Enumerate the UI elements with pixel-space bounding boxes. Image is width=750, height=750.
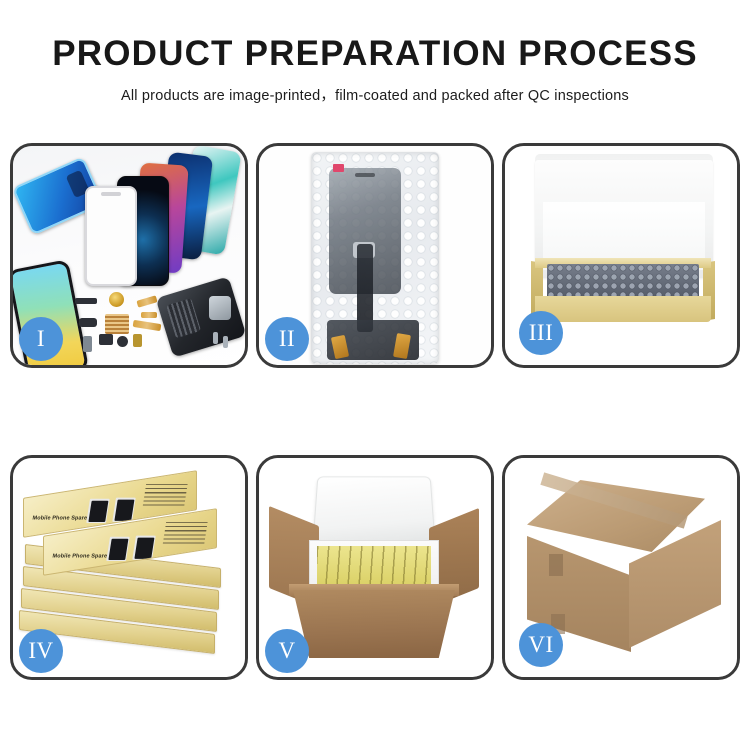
- process-step-card-4[interactable]: Mobile Phone Spare Parts Mobile Phone Sp…: [10, 455, 248, 680]
- product-preparation-infographic: PRODUCT PREPARATION PROCESS All products…: [0, 0, 750, 750]
- process-step-card-1[interactable]: I: [10, 143, 248, 368]
- process-step-card-6[interactable]: VI: [502, 455, 740, 680]
- spare-part-flex-cable-3: [133, 320, 162, 331]
- page-title: PRODUCT PREPARATION PROCESS: [0, 36, 750, 73]
- retail-box-1-thumb-b: [112, 498, 136, 522]
- bubble-wrap: [311, 152, 439, 364]
- bubble-wrapped-parts: [547, 264, 699, 300]
- spare-part-sim-tray: [83, 336, 92, 352]
- spare-part-shield: [105, 314, 129, 334]
- carton-front-panel: [293, 590, 455, 658]
- step-badge-6: VI: [519, 623, 563, 667]
- step-badge-3: III: [519, 311, 563, 355]
- step-badge-5: V: [265, 629, 309, 673]
- retail-box-2-spec-lines: [162, 522, 207, 546]
- foam-box-lid: [312, 476, 435, 544]
- carton-tab-upper: [549, 554, 563, 576]
- lcd-flex-cable: [357, 244, 373, 332]
- step-badge-2: II: [265, 317, 309, 361]
- spare-part-tool: [209, 296, 231, 320]
- spare-part-battery-connector: [133, 334, 142, 347]
- spare-part-flex-cable-2: [141, 312, 157, 318]
- phone-front-glass-white: [85, 186, 137, 286]
- spare-part-screw-1: [213, 332, 218, 344]
- page-subtitle: All products are image-printed，film-coat…: [0, 84, 750, 105]
- process-step-card-2[interactable]: II: [256, 143, 494, 368]
- mailer-box-front-panel: [535, 296, 711, 322]
- spare-part-flex-cable-1: [136, 295, 157, 307]
- step-badge-1: I: [19, 317, 63, 361]
- lcd-qc-sticker: [333, 164, 344, 172]
- phone-logic-board: [156, 276, 245, 358]
- spare-part-button: [117, 336, 128, 347]
- retail-box-2-thumb-a: [106, 537, 130, 561]
- spare-part-screw-2: [223, 336, 228, 348]
- spare-part-coil: [109, 292, 124, 307]
- retail-box-1-thumb-a: [86, 499, 110, 523]
- step-badge-4: IV: [19, 629, 63, 673]
- process-step-card-5[interactable]: V: [256, 455, 494, 680]
- retail-box-2-thumb-b: [132, 536, 156, 560]
- process-step-card-3[interactable]: III: [502, 143, 740, 368]
- process-step-grid: I II: [10, 143, 740, 726]
- header: PRODUCT PREPARATION PROCESS All products…: [0, 0, 750, 105]
- spare-part-camera: [99, 334, 113, 345]
- spare-part-speaker: [75, 298, 97, 304]
- retail-box-1-spec-lines: [142, 484, 187, 508]
- spare-part-bracket: [79, 318, 97, 327]
